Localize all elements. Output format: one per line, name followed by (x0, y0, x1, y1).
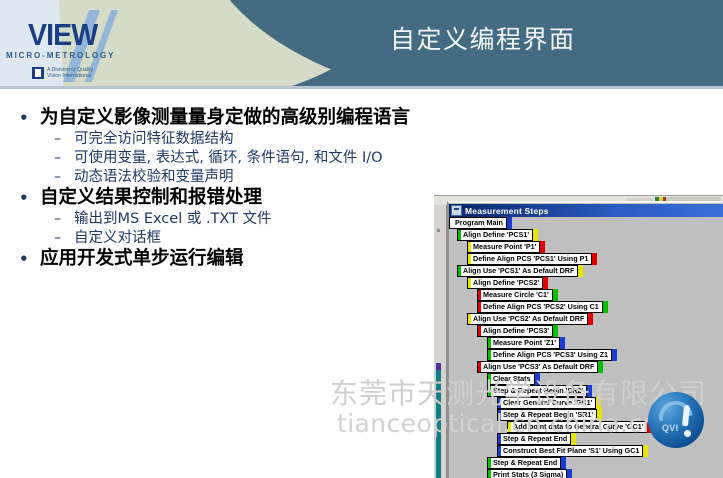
step-shadow-marker (560, 337, 565, 349)
logo-wordmark: VIEW (28, 17, 97, 53)
step-box[interactable]: Define Align PCS 'PCS2' Using C1 (477, 301, 603, 313)
step-box[interactable]: Add point data to General Curve 'GC1' (507, 421, 647, 433)
step-box[interactable]: Step & Repeat Begin 'SR1' (497, 409, 597, 421)
measurement-step-row[interactable]: Step & Repeat End (449, 457, 723, 469)
step-shadow-marker (533, 229, 538, 241)
bullet-text: 应用开发式单步运行编辑 (40, 248, 434, 270)
step-shadow-marker (561, 457, 566, 469)
step-shadow-marker (553, 289, 558, 301)
window-title-bar[interactable]: Measurement Steps (449, 204, 723, 217)
measurement-step-row[interactable]: Measure Point 'Z1' (449, 337, 723, 349)
page-title: 自定义编程界面 (390, 20, 576, 56)
bullet-text: 自定义对话框 (74, 229, 434, 248)
window-document-icon (451, 205, 462, 216)
bullet-item-level1: •应用开发式单步运行编辑 (14, 248, 434, 270)
step-shadow-marker (587, 385, 592, 397)
logo-tagline: MICRO-METROLOGY (6, 51, 115, 60)
bullet-item-level1: •自定义结果控制和报错处理 (14, 187, 434, 209)
measurement-step-row[interactable]: Measure Point 'P1' (449, 241, 723, 253)
step-label: Add point data to General Curve 'GC1' (511, 422, 646, 432)
measurement-step-row[interactable]: Construct Best Fit Plane 'S1' Using GC1 (449, 445, 723, 457)
bullet-item-level2: –输出到MS Excel 或 .TXT 文件 (14, 210, 434, 229)
building-badge-icon (32, 67, 44, 79)
measurement-step-row[interactable]: Align Define 'PCS2' (449, 277, 723, 289)
step-shadow-marker (647, 421, 652, 433)
step-label: Step & Repeat Begin 'SR1' (501, 410, 596, 420)
step-label: Clear General Curve 'GC1' (501, 398, 595, 408)
step-box[interactable]: Measure Circle 'C1' (477, 289, 553, 301)
measurement-step-row[interactable]: Measure Circle 'C1' (449, 289, 723, 301)
step-label: Align Define 'PCS2' (471, 278, 542, 288)
bullet-marker-icon: – (54, 149, 74, 168)
bullet-text: 为自定义影像测量量身定做的高级别编程语言 (40, 107, 434, 129)
step-shadow-marker (571, 433, 576, 445)
step-shadow-marker (643, 445, 648, 457)
bullet-marker-icon: • (14, 187, 40, 209)
step-shadow-marker (553, 325, 558, 337)
step-box[interactable]: Align Define 'PCS3' (477, 325, 553, 337)
step-shadow-marker (578, 265, 583, 277)
step-box[interactable]: Align Use 'PCS3' As Default DRF (477, 361, 598, 373)
bullet-marker-icon: • (14, 248, 40, 270)
step-shadow-marker (543, 277, 548, 289)
measurement-step-row[interactable]: Step & Repeat Begin 'SR1' (449, 409, 723, 421)
page-header: VIEW MICRO-METROLOGY A Division of Quali… (0, 0, 723, 86)
step-box[interactable]: Measure Point 'P1' (467, 241, 540, 253)
logo-division-block: A Division of Quality Vision Internation… (32, 67, 93, 80)
bullet-text: 可完全访问特征数据结构 (74, 130, 434, 149)
measurement-step-row[interactable]: Clear Stats (449, 373, 723, 385)
outer-window-tick-icon (437, 229, 440, 232)
measurement-step-row[interactable]: Add point data to General Curve 'GC1' (449, 421, 723, 433)
outer-window-left-chrome (434, 205, 447, 478)
step-label: Measure Point 'P1' (471, 242, 539, 252)
step-shadow-marker (603, 301, 608, 313)
measurement-step-row[interactable]: Align Define 'PCS3' (449, 325, 723, 337)
view-logo: VIEW MICRO-METROLOGY A Division of Quali… (6, 12, 181, 84)
step-tree: Program MainAlign Define 'PCS1'Measure P… (449, 217, 723, 478)
measurement-steps-screenshot: Measurement Steps Program MainAlign Defi… (434, 195, 723, 478)
bullet-text: 动态语法校验和变量声明 (74, 168, 434, 187)
step-label: Measure Circle 'C1' (481, 290, 552, 300)
step-shadow-marker (540, 241, 545, 253)
bullet-item-level1: •为自定义影像测量量身定做的高级别编程语言 (14, 107, 434, 129)
measurement-step-row[interactable]: Define Align PCS 'PCS3' Using Z1 (449, 349, 723, 361)
bullet-marker-icon: – (54, 168, 74, 187)
step-label: Align Use 'PCS2' As Default DRF (471, 314, 587, 324)
step-label: Measure Point 'Z1' (491, 338, 559, 348)
step-box[interactable]: Align Define 'PCS1' (457, 229, 533, 241)
step-box[interactable]: Align Use 'PCS1' As Default DRF (457, 265, 578, 277)
measurement-step-row[interactable]: Align Define 'PCS1' (449, 229, 723, 241)
step-shadow-marker (507, 217, 512, 229)
step-box[interactable]: Step & Repeat End (497, 433, 571, 445)
step-box[interactable]: Step & Repeat End (487, 457, 561, 469)
step-shadow-marker (567, 469, 572, 478)
step-shadow-marker (596, 397, 601, 409)
step-shadow-marker (597, 409, 602, 421)
bullet-item-level2: –可使用变量, 表达式, 循环, 条件语句, 和文件 I/O (14, 149, 434, 168)
measurement-step-row[interactable]: Step & Repeat End (449, 433, 723, 445)
step-shadow-marker (588, 313, 593, 325)
step-label: Define Align PCS 'PCS3' Using Z1 (491, 350, 611, 360)
step-shadow-marker (612, 349, 617, 361)
bullet-item-level2: –自定义对话框 (14, 229, 434, 248)
bullet-item-level2: –可完全访问特征数据结构 (14, 130, 434, 149)
step-shadow-marker (535, 373, 540, 385)
measurement-step-row[interactable]: Align Use 'PCS1' As Default DRF (449, 265, 723, 277)
measurement-step-row[interactable]: Define Align PCS 'PCS2' Using C1 (449, 301, 723, 313)
bullet-marker-icon: – (54, 130, 74, 149)
bullet-list: •为自定义影像测量量身定做的高级别编程语言–可完全访问特征数据结构–可使用变量,… (14, 107, 434, 271)
bullet-item-level2: –动态语法校验和变量声明 (14, 168, 434, 187)
step-label: Step & Repeat End (501, 434, 570, 444)
step-box[interactable]: Clear Stats (487, 373, 535, 385)
measurement-steps-window: Measurement Steps Program MainAlign Defi… (447, 201, 723, 478)
step-label: Print Stats (3 Sigma) (491, 470, 566, 478)
bullet-text: 可使用变量, 表达式, 循环, 条件语句, 和文件 I/O (74, 149, 434, 168)
step-label: Construct Best Fit Plane 'S1' Using GC1 (501, 446, 642, 456)
outer-window-scrollbar[interactable] (436, 370, 441, 478)
logo-division-text: A Division of Quality Vision Internation… (47, 67, 93, 80)
window-title-text: Measurement Steps (465, 206, 549, 216)
slide-content: •为自定义影像测量量身定做的高级别编程语言–可完全访问特征数据结构–可使用变量,… (0, 89, 723, 450)
step-box[interactable]: Program Main (449, 217, 507, 229)
bullet-text: 自定义结果控制和报错处理 (40, 187, 434, 209)
measurement-step-row[interactable]: Print Stats (3 Sigma) (449, 469, 723, 478)
step-label: Align Define 'PCS3' (481, 326, 552, 336)
step-box[interactable]: Print Stats (3 Sigma) (487, 469, 567, 478)
step-label: Program Main (453, 218, 506, 228)
step-shadow-marker (592, 253, 597, 265)
step-box[interactable]: Measure Point 'Z1' (487, 337, 560, 349)
step-box[interactable]: Align Use 'PCS2' As Default DRF (467, 313, 588, 325)
step-box[interactable]: Define Align PCS 'PCS1' Using P1 (467, 253, 592, 265)
measurement-step-row[interactable]: Align Use 'PCS3' As Default DRF (449, 361, 723, 373)
step-label: Define Align PCS 'PCS2' Using C1 (481, 302, 602, 312)
measurement-step-row[interactable]: Define Align PCS 'PCS1' Using P1 (449, 253, 723, 265)
step-shadow-marker (598, 361, 603, 373)
step-label: Align Use 'PCS1' As Default DRF (461, 266, 577, 276)
step-label: Step & Repeat End (491, 458, 560, 468)
step-box[interactable]: Align Define 'PCS2' (467, 277, 543, 289)
step-label: Clear Stats (491, 374, 534, 384)
step-label: Align Define 'PCS1' (461, 230, 532, 240)
outer-window-marker-icon (436, 363, 441, 370)
step-label: Align Use 'PCS3' As Default DRF (481, 362, 597, 372)
step-box[interactable]: Define Align PCS 'PCS3' Using Z1 (487, 349, 612, 361)
step-box[interactable]: Clear General Curve 'GC1' (497, 397, 596, 409)
bullet-marker-icon: • (14, 107, 40, 129)
measurement-step-row[interactable]: Clear General Curve 'GC1' (449, 397, 723, 409)
measurement-step-row[interactable]: Step & Repeat Begin 'SR2' (449, 385, 723, 397)
bullet-text: 输出到MS Excel 或 .TXT 文件 (74, 210, 434, 229)
step-label: Define Align PCS 'PCS1' Using P1 (471, 254, 591, 264)
step-box[interactable]: Step & Repeat Begin 'SR2' (487, 385, 587, 397)
bullet-marker-icon: – (54, 229, 74, 248)
measurement-step-row[interactable]: Program Main (449, 217, 723, 229)
step-box[interactable]: Construct Best Fit Plane 'S1' Using GC1 (497, 445, 643, 457)
bullet-marker-icon: – (54, 210, 74, 229)
step-label: Step & Repeat Begin 'SR2' (491, 386, 586, 396)
measurement-step-row[interactable]: Align Use 'PCS2' As Default DRF (449, 313, 723, 325)
